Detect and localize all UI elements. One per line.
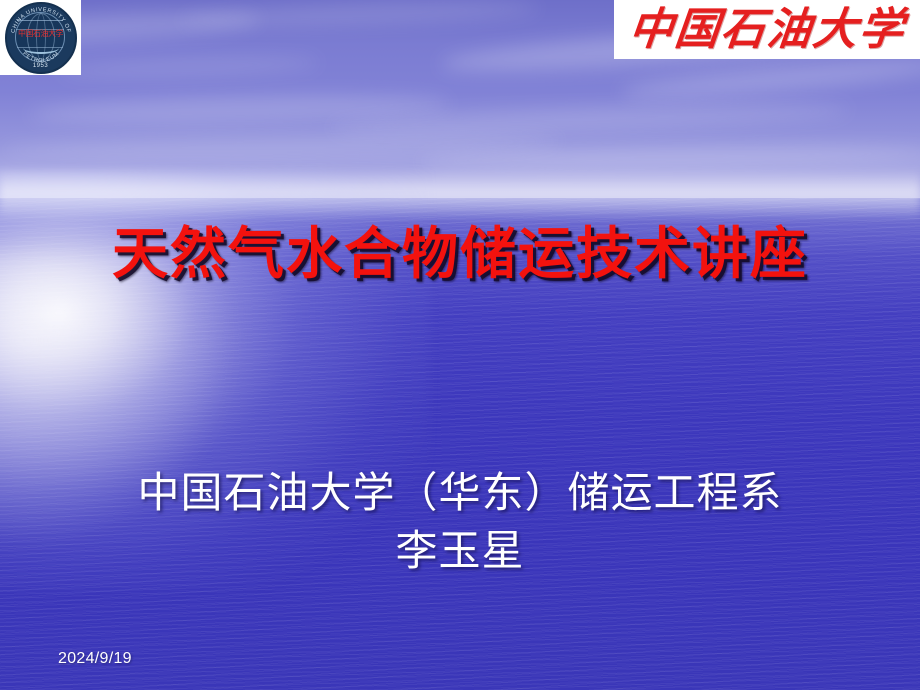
subtitle-author: 李玉星 xyxy=(0,524,920,582)
presentation-slide: CHINA UNIVERSITY OF PETROLEUM 中国石油大学 195… xyxy=(0,0,920,690)
university-logo: CHINA UNIVERSITY OF PETROLEUM 中国石油大学 195… xyxy=(0,0,81,75)
seal-center-characters: 中国石油大学 xyxy=(7,30,75,38)
university-name-calligraphy-text: 中国石油大学 xyxy=(627,8,908,52)
university-seal-icon: CHINA UNIVERSITY OF PETROLEUM 中国石油大学 195… xyxy=(5,2,77,74)
subtitle-affiliation: 中国石油大学（华东）储运工程系 xyxy=(0,466,920,524)
horizon-haze xyxy=(0,168,920,220)
cloud-wisp xyxy=(30,91,451,128)
cloud-wisp xyxy=(180,0,540,30)
slide-date: 2024/9/19 xyxy=(58,650,132,668)
cloud-wisp xyxy=(0,131,560,161)
cloud-wisp xyxy=(60,53,320,80)
slide-subtitle: 中国石油大学（华东）储运工程系 李玉星 xyxy=(0,466,920,582)
cloud-wisp xyxy=(620,52,920,105)
seal-founding-year: 1953 xyxy=(7,63,75,69)
slide-title: 天然气水合物储运技术讲座 xyxy=(0,222,920,288)
seal-arc-text-icon: CHINA UNIVERSITY OF PETROLEUM xyxy=(7,4,75,72)
cloud-wisp xyxy=(330,99,850,139)
seal-wave-motif xyxy=(23,42,59,54)
university-name-banner: 中国石油大学 xyxy=(614,0,920,59)
